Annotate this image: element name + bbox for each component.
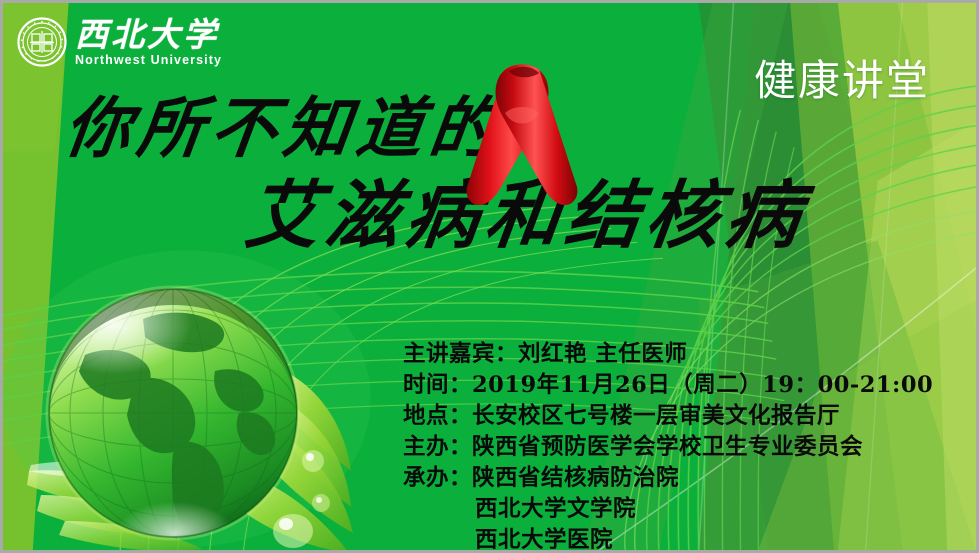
event-detail-row: 西北大学医院: [403, 525, 933, 553]
brand-lockup: 西北大学 Northwest University: [17, 17, 222, 67]
event-detail-value: 2019年11月26日（周二）19：00-21:00: [472, 372, 933, 398]
event-detail-row: 主办：陕西省预防医学会学校卫生专业委员会: [403, 432, 933, 463]
green-globe-graphic: [25, 275, 355, 553]
event-detail-value: 陕西省预防医学会学校卫生专业委员会: [472, 434, 863, 460]
event-detail-row: 地点：长安校区七号楼一层审美文化报告厅: [403, 401, 933, 432]
event-detail-row: 主讲嘉宾：刘红艳 主任医师: [403, 339, 933, 370]
event-detail-label: 主办：: [403, 434, 472, 460]
event-detail-label: 时间：: [403, 372, 472, 398]
event-detail-label: 主讲嘉宾：: [403, 341, 518, 367]
event-detail-value: 西北大学医院: [475, 527, 613, 553]
university-seal-icon: [17, 17, 67, 67]
event-detail-row: 承办：陕西省结核病防治院: [403, 463, 933, 494]
university-name-cn: 西北大学: [75, 18, 222, 51]
event-detail-value: 陕西省结核病防治院: [472, 465, 679, 491]
aids-red-ribbon-icon: [461, 55, 583, 215]
event-detail-value: 刘红艳 主任医师: [518, 341, 687, 367]
series-label: 健康讲堂: [754, 47, 930, 108]
event-detail-label: 承办：: [403, 465, 472, 491]
event-detail-label: 地点：: [403, 403, 472, 429]
event-detail-row: 时间：2019年11月26日（周二）19：00-21:00: [403, 370, 933, 401]
university-name-en: Northwest University: [75, 54, 222, 67]
event-detail-value: 西北大学文学院: [475, 496, 636, 522]
event-detail-value: 长安校区七号楼一层审美文化报告厅: [472, 403, 840, 429]
event-detail-row: 西北大学文学院: [403, 494, 933, 525]
event-details-block: 主讲嘉宾：刘红艳 主任医师时间：2019年11月26日（周二）19：00-21:…: [403, 339, 933, 553]
university-wordmark: 西北大学 Northwest University: [75, 18, 222, 67]
poster-canvas: 西北大学 Northwest University 健康讲堂 你所不知道的 艾滋…: [0, 0, 979, 553]
